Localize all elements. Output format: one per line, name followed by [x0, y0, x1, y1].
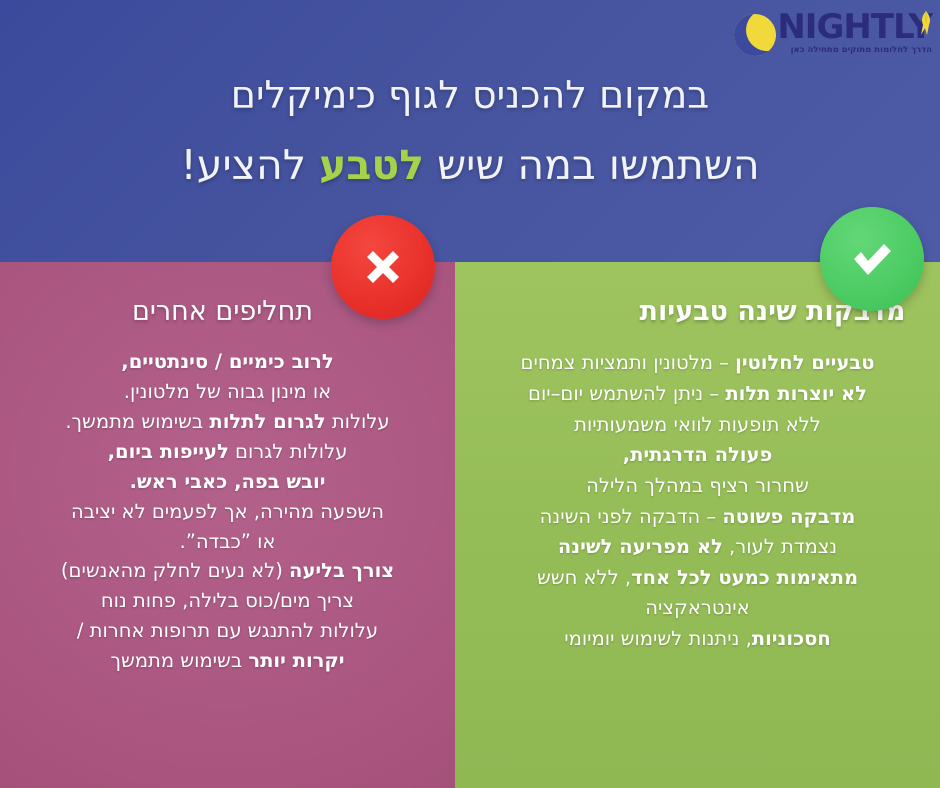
comparison-columns: תחליפים אחרים לרוב כימיים / סינתטיים,או …: [0, 262, 940, 788]
list-item-text: עלולות: [326, 410, 390, 433]
headline: במקום להכניס לגוף כימיקלים השתמשו במה שי…: [0, 74, 940, 188]
list-item-emphasis: לעייפות ביום,: [108, 440, 229, 463]
list-item: אינטראקציה: [477, 593, 918, 623]
list-item-text: צריך מים/כוס בלילה, פחות נוח: [101, 589, 354, 612]
list-item-text: – ניתן להשתמש יום–יום: [528, 382, 725, 405]
list-item: או מינון גבוה של מלטונין.: [22, 378, 433, 407]
cross-x-icon: [331, 215, 435, 319]
list-item: נצמדת לעור, לא מפריעה לשינה: [477, 532, 918, 562]
list-item-emphasis: יקרות יותר: [248, 649, 344, 672]
list-item: מתאימות כמעט לכל אחד, ללא חשש: [477, 563, 918, 593]
list-item-text: – מלטונין ותמציות צמחים: [521, 351, 736, 374]
list-item-emphasis: לגרום לתלות: [209, 410, 325, 433]
list-item: עלולות להתנגש עם תרופות אחרות /: [22, 617, 433, 646]
column-good-list: טבעיים לחלוטין – מלטונין ותמציות צמחיםלא…: [477, 348, 918, 653]
list-item-emphasis: לרוב כימיים / סינתטיים,: [121, 350, 333, 373]
list-item: צורך בליעה (לא נעים לחלק מהאנשים): [22, 557, 433, 586]
list-item: עלולות לגרום לתלות בשימוש מתמשך.: [22, 408, 433, 437]
list-item: פעולה הדרגתית,: [477, 440, 918, 470]
list-item-text: עלולות לגרום: [229, 440, 348, 463]
check-mark-glyph: [844, 231, 900, 287]
list-item-emphasis: לא יוצרות תלות: [725, 382, 867, 405]
list-item: או ”כבדה”.: [22, 528, 433, 557]
column-natural-sleep-patches: מדבקות שינה טבעיות טבעיים לחלוטין – מלטו…: [455, 262, 940, 788]
list-item-text: – הדבקה לפני השינה: [540, 505, 723, 528]
list-item: מדבקה פשוטה – הדבקה לפני השינה: [477, 502, 918, 532]
list-item: ללא תופעות לוואי משמעותיות: [477, 410, 918, 440]
list-item-emphasis: לא מפריעה לשינה: [558, 535, 723, 558]
list-item-emphasis: יובש בפה, כאבי ראש.: [129, 470, 325, 493]
column-other-alternatives: תחליפים אחרים לרוב כימיים / סינתטיים,או …: [0, 262, 455, 788]
list-item-text: או מינון גבוה של מלטונין.: [124, 380, 331, 403]
list-item: שחרור רציף במהלך הלילה: [477, 471, 918, 501]
list-item-emphasis: צורך בליעה: [289, 559, 394, 582]
headline-line-2-before: השתמשו במה שיש: [424, 141, 760, 189]
list-item-text: בשימוש מתמשך.: [65, 410, 209, 433]
list-item-text: אינטראקציה: [645, 596, 749, 619]
logo-text-wrap: NIGHTLY הדרך לחלומות מתוקים מתחילה כאן: [777, 10, 932, 55]
headline-line-2: השתמשו במה שיש לטבע להציע!: [0, 143, 940, 189]
list-item: יקרות יותר בשימוש מתמשך: [22, 647, 433, 676]
list-item: עלולות לגרום לעייפות ביום,: [22, 438, 433, 467]
list-item-text: בשימוש מתמשך: [111, 649, 249, 672]
headline-highlight: לטבע: [319, 141, 424, 189]
brand-name: NIGHTLY: [777, 10, 932, 44]
list-item-text: עלולות להתנגש עם תרופות אחרות /: [77, 619, 378, 642]
list-item: חסכוניות, ניתנות לשימוש יומיומי: [477, 624, 918, 654]
list-item: יובש בפה, כאבי ראש.: [22, 468, 433, 497]
list-item-text: נצמדת לעור,: [723, 535, 837, 558]
crescent-moon-icon: [729, 9, 782, 62]
list-item-emphasis: מדבקה פשוטה: [722, 505, 855, 528]
awareness-ribbon-icon: [918, 10, 934, 36]
list-item-emphasis: מתאימות כמעט לכל אחד: [631, 566, 858, 589]
cross-x-glyph: [356, 240, 410, 294]
list-item-text: ללא תופעות לוואי משמעותיות: [574, 413, 821, 436]
list-item: לרוב כימיים / סינתטיים,: [22, 348, 433, 377]
list-item-text: , ללא חשש: [537, 566, 631, 589]
list-item: טבעיים לחלוטין – מלטונין ותמציות צמחים: [477, 348, 918, 378]
list-item-text: או ”כבדה”.: [180, 530, 276, 553]
headline-line-1: במקום להכניס לגוף כימיקלים: [0, 74, 940, 117]
headline-line-2-after: להציע!: [180, 141, 319, 189]
list-item-emphasis: טבעיים לחלוטין: [735, 351, 874, 374]
list-item-emphasis: פעולה הדרגתית,: [623, 443, 773, 466]
infographic-poster: NIGHTLY הדרך לחלומות מתוקים מתחילה כאן ב…: [0, 0, 940, 788]
brand-tagline: הדרך לחלומות מתוקים מתחילה כאן: [777, 45, 932, 55]
list-item-text: (לא נעים לחלק מהאנשים): [61, 559, 289, 582]
list-item-text: השפעה מהירה, אך לפעמים לא יציבה: [71, 500, 384, 523]
list-item: צריך מים/כוס בלילה, פחות נוח: [22, 587, 433, 616]
list-item: השפעה מהירה, אך לפעמים לא יציבה: [22, 498, 433, 527]
list-item-text: , ניתנות לשימוש יומיומי: [564, 627, 752, 650]
check-mark-icon: [820, 207, 924, 311]
list-item-text: שחרור רציף במהלך הלילה: [586, 474, 809, 497]
list-item-emphasis: חסכוניות: [752, 627, 831, 650]
brand-logo: NIGHTLY הדרך לחלומות מתוקים מתחילה כאן: [732, 4, 932, 60]
column-bad-list: לרוב כימיים / סינתטיים,או מינון גבוה של …: [22, 348, 433, 675]
list-item: לא יוצרות תלות – ניתן להשתמש יום–יום: [477, 379, 918, 409]
